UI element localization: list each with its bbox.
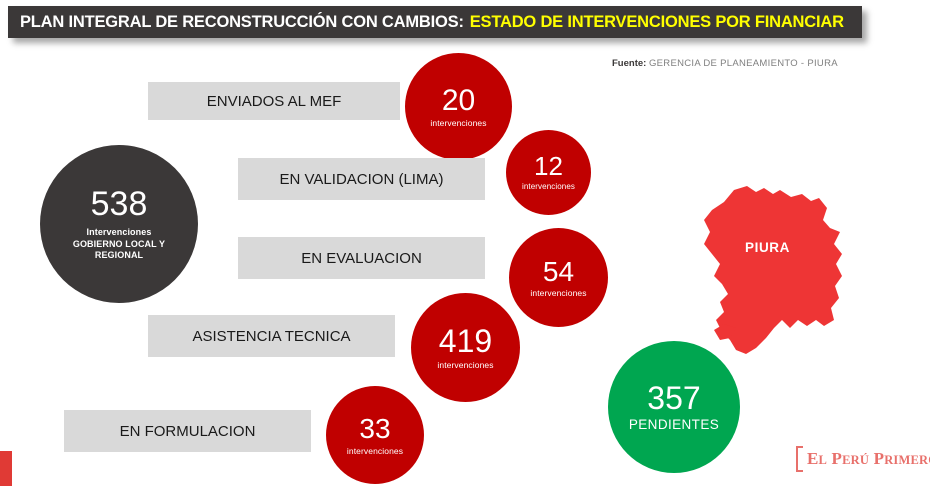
- stage-label-text: ASISTENCIA TECNICA: [192, 328, 350, 345]
- logo-el: E: [807, 449, 819, 468]
- total-value: 538: [91, 187, 148, 223]
- piura-map: [690, 168, 860, 364]
- source-note: Fuente: GERENCIA DE PLANEAMIENTO - PIURA: [612, 58, 838, 69]
- stage-circle-en-validacion-lima: 12 intervenciones: [506, 130, 591, 215]
- stage-unit: intervenciones: [347, 447, 403, 456]
- logo-bracket-left-icon: [796, 446, 803, 472]
- total-unit: Intervenciones: [87, 227, 152, 237]
- infographic-canvas: PLAN INTEGRAL DE RECONSTRUCCIÓN CON CAMB…: [0, 0, 930, 486]
- page-title-main: PLAN INTEGRAL DE RECONSTRUCCIÓN CON CAMB…: [20, 13, 464, 32]
- stage-value: 54: [543, 257, 574, 286]
- el-peru-primero-logo: EL PERÚ PRIMERO: [796, 446, 930, 472]
- map-region-label: PIURA: [745, 240, 790, 255]
- total-caption: Intervenciones GOBIERNO LOCAL Y REGIONAL: [73, 227, 165, 261]
- stage-label-text: EN VALIDACION (LIMA): [280, 171, 444, 188]
- stage-label-enviados-al-mef[interactable]: ENVIADOS AL MEF: [148, 82, 400, 120]
- logo-peru: P: [832, 449, 843, 468]
- stage-circle-en-evaluacion: 54 intervenciones: [509, 228, 608, 327]
- stage-unit: intervenciones: [437, 361, 493, 370]
- logo-text: EL PERÚ PRIMERO: [803, 449, 930, 469]
- stage-label-en-evaluacion[interactable]: EN EVALUACION: [238, 237, 485, 279]
- total-interventions-circle: 538 Intervenciones GOBIERNO LOCAL Y REGI…: [40, 145, 198, 303]
- stage-unit: intervenciones: [522, 183, 575, 191]
- stage-label-text: ENVIADOS AL MEF: [207, 93, 341, 110]
- stage-circle-asistencia-tecnica: 419 intervenciones: [411, 293, 520, 402]
- logo-el-small: L: [819, 453, 828, 467]
- stage-value: 33: [359, 414, 390, 443]
- stage-value: 419: [439, 325, 492, 359]
- total-scope-line2: REGIONAL: [95, 250, 143, 260]
- logo-primero-small: RIMERO: [884, 453, 930, 467]
- pending-label: PENDIENTES: [629, 418, 719, 432]
- source-value: GERENCIA DE PLANEAMIENTO - PIURA: [649, 58, 838, 69]
- logo-primero: P: [874, 449, 885, 468]
- stage-label-text: EN FORMULACION: [120, 423, 256, 440]
- stage-label-en-formulacion[interactable]: EN FORMULACION: [64, 410, 311, 452]
- logo-peru-small: ERÚ: [842, 453, 869, 467]
- stage-unit: intervenciones: [530, 289, 586, 298]
- stage-value: 20: [442, 85, 475, 117]
- pending-value: 357: [647, 382, 700, 416]
- piura-map-icon: [690, 168, 860, 364]
- stage-label-en-validacion-lima[interactable]: EN VALIDACION (LIMA): [238, 158, 485, 200]
- stage-circle-enviados-al-mef: 20 intervenciones: [405, 53, 512, 160]
- stage-value: 12: [534, 153, 563, 180]
- source-label: Fuente:: [612, 58, 646, 69]
- page-title-bar: PLAN INTEGRAL DE RECONSTRUCCIÓN CON CAMB…: [8, 6, 862, 38]
- stage-label-asistencia-tecnica[interactable]: ASISTENCIA TECNICA: [148, 315, 395, 357]
- stage-unit: intervenciones: [430, 119, 486, 128]
- stage-circle-en-formulacion: 33 intervenciones: [326, 386, 424, 484]
- total-scope-line1: GOBIERNO LOCAL Y: [73, 239, 165, 249]
- corner-accent-bar: [0, 451, 12, 486]
- stage-label-text: EN EVALUACION: [301, 250, 422, 267]
- page-title-accent: ESTADO DE INTERVENCIONES POR FINANCIAR: [470, 13, 844, 32]
